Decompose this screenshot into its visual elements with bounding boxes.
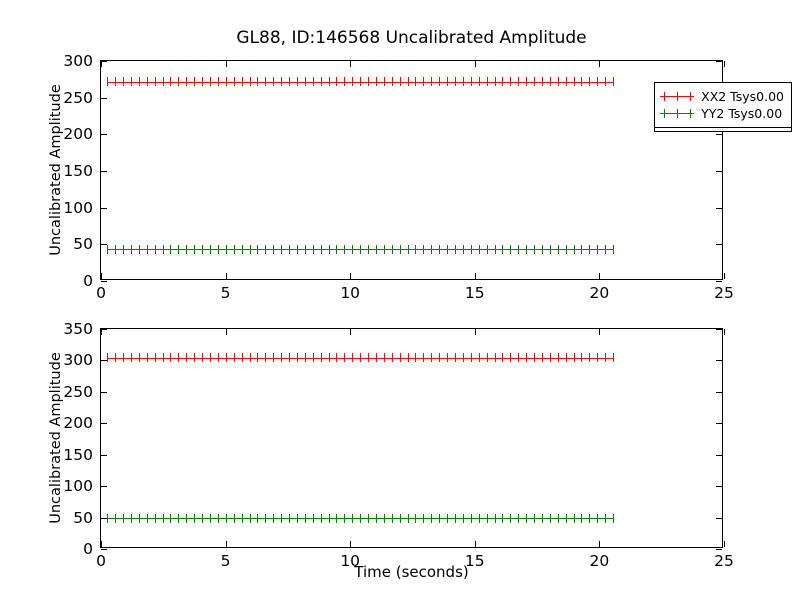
series-line-top-1 [107,249,613,250]
data-point-marker [613,514,614,523]
x-tick-bottom [226,541,227,547]
data-point-marker [613,353,614,362]
y-tick-right-bottom [716,486,722,487]
y-tick-right-bottom [716,423,722,424]
plot-area-bottom [101,329,722,547]
y-tick-top [101,98,107,99]
legend-bottom: XX2 Tsys0.00YY2 Tsys0.00 [654,82,792,128]
series-line-bottom-0 [107,358,613,359]
x-tick-top-top [350,61,351,67]
y-tick-label-top: 100 [63,199,93,217]
x-tick-bottom [599,541,600,547]
y-tick-label-top: 300 [63,52,93,70]
figure-canvas: GL88, ID:146568 Uncalibrated Amplitude U… [0,0,800,600]
x-tick-label-top: 10 [340,284,360,302]
y-tick-label-top: 50 [73,235,93,253]
y-tick-right-top [716,61,722,62]
x-tick-top-top [475,61,476,67]
y-tick-bottom [101,455,107,456]
chart-title: GL88, ID:146568 Uncalibrated Amplitude [100,28,723,48]
y-tick-label-top: 0 [83,272,93,290]
x-tick-label-top: 15 [465,284,485,302]
y-tick-top [101,208,107,209]
x-tick-bottom [350,541,351,547]
x-tick-top [599,273,600,279]
y-tick-right-top [716,244,722,245]
y-tick-right-top [716,171,722,172]
y-tick-bottom [101,360,107,361]
legend-swatch-icon [660,90,694,103]
data-point-marker [613,245,614,254]
y-tick-top [101,244,107,245]
x-axis-label: Time (seconds) [100,563,723,581]
y-tick-label-top: 200 [63,125,93,143]
legend-label: YY2 Tsys0.00 [701,106,782,121]
y-tick-top [101,281,107,282]
legend-swatch-icon [660,107,694,120]
x-tick-top-bottom [475,329,476,335]
x-tick-bottom [724,541,725,547]
y-axis-label-top: Uncalibrated Amplitude [48,60,64,280]
y-tick-bottom [101,518,107,519]
y-tick-right-top [716,208,722,209]
x-tick-top [226,273,227,279]
y-tick-right-bottom [716,360,722,361]
y-tick-top [101,134,107,135]
series-line-bottom-1 [107,518,613,519]
x-tick-label-top: 20 [590,284,610,302]
y-tick-right-bottom [716,549,722,550]
y-tick-right-bottom [716,455,722,456]
y-tick-right-bottom [716,392,722,393]
x-tick-bottom [475,541,476,547]
x-tick-top [350,273,351,279]
y-tick-right-top [716,281,722,282]
y-tick-right-top [716,134,722,135]
y-axis-label-bottom: Uncalibrated Amplitude [48,328,64,548]
legend-entry-bottom-0[interactable]: XX2 Tsys0.00 [660,88,784,105]
y-tick-bottom [101,549,107,550]
y-tick-bottom [101,423,107,424]
x-tick-top-bottom [724,329,725,335]
x-tick-label-top: 0 [96,284,106,302]
legend-entry-bottom-1[interactable]: YY2 Tsys0.00 [660,105,784,122]
series-line-top-0 [107,82,613,83]
x-tick-top [724,273,725,279]
x-tick-top-bottom [350,329,351,335]
x-tick-top [101,273,102,279]
y-tick-label-top: 250 [63,89,93,107]
x-tick-top-top [101,61,102,67]
x-tick-top-top [226,61,227,67]
y-tick-right-bottom [716,518,722,519]
x-tick-label-top: 5 [221,284,231,302]
y-tick-label-bottom: 250 [63,383,93,401]
y-tick-label-bottom: 150 [63,446,93,464]
y-tick-bottom [101,392,107,393]
data-point-marker [613,77,614,86]
subplot-bottom: 0501001502002503003500510152025 [100,328,723,548]
y-tick-label-bottom: 300 [63,351,93,369]
y-tick-bottom [101,486,107,487]
y-tick-label-bottom: 100 [63,477,93,495]
y-tick-right-bottom [716,329,722,330]
x-tick-top-bottom [101,329,102,335]
x-tick-top-bottom [226,329,227,335]
y-tick-label-bottom: 200 [63,414,93,432]
y-tick-label-top: 150 [63,162,93,180]
x-tick-bottom [101,541,102,547]
x-tick-top-top [724,61,725,67]
y-tick-label-bottom: 0 [83,540,93,558]
subplot-top: 0501001502002503000510152025 [100,60,723,280]
x-tick-label-top: 25 [714,284,734,302]
plot-area-top [101,61,722,279]
x-tick-top-top [599,61,600,67]
x-tick-top-bottom [599,329,600,335]
legend-label: XX2 Tsys0.00 [701,89,784,104]
x-tick-top [475,273,476,279]
y-tick-top [101,171,107,172]
y-tick-label-bottom: 350 [63,320,93,338]
y-tick-label-bottom: 50 [73,509,93,527]
